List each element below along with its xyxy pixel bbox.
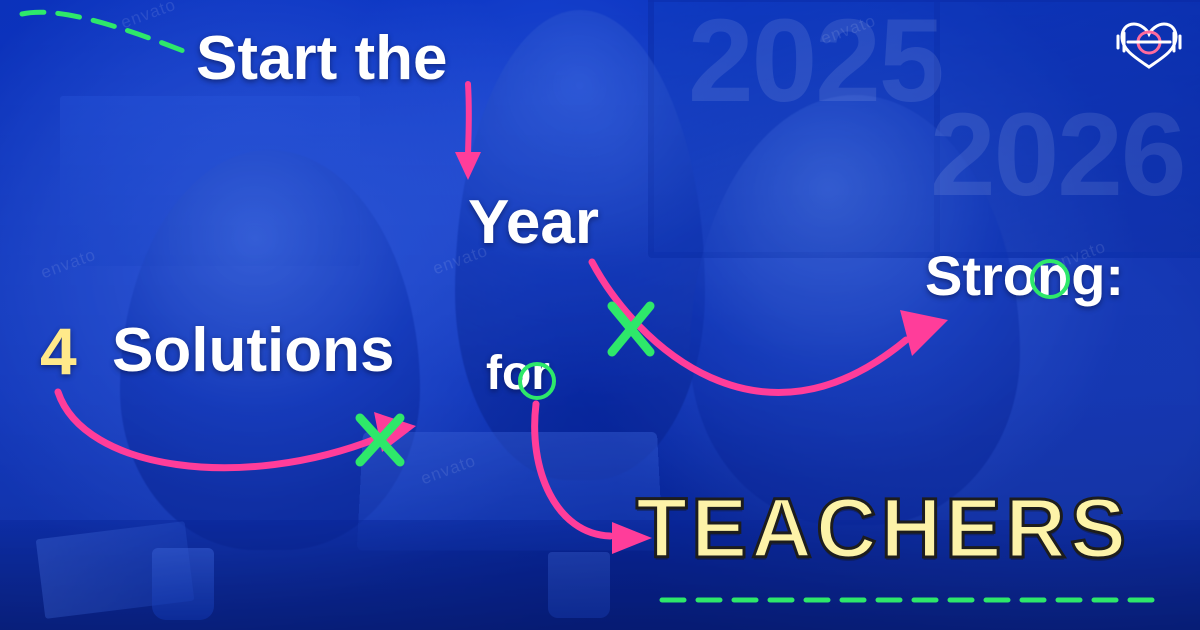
- green-circle-letter-for: [518, 362, 556, 400]
- ghost-year-2025: 2025: [688, 2, 943, 120]
- headline-word-year: Year: [468, 192, 599, 254]
- headline-number-4: 4: [40, 318, 77, 384]
- headline-word-start-the: Start the: [196, 28, 447, 90]
- heart-dumbbell-logo: [1114, 12, 1184, 74]
- headline-word-solutions: Solutions: [112, 320, 394, 382]
- headline-word-strong: Strong:: [925, 248, 1124, 304]
- banner-canvas: envato envato envato envato envato envat…: [0, 0, 1200, 630]
- headline-word-teachers: TEACHERS: [636, 486, 1130, 570]
- green-circle-letter-strong: [1030, 259, 1070, 299]
- ghost-year-2026: 2026: [930, 96, 1185, 214]
